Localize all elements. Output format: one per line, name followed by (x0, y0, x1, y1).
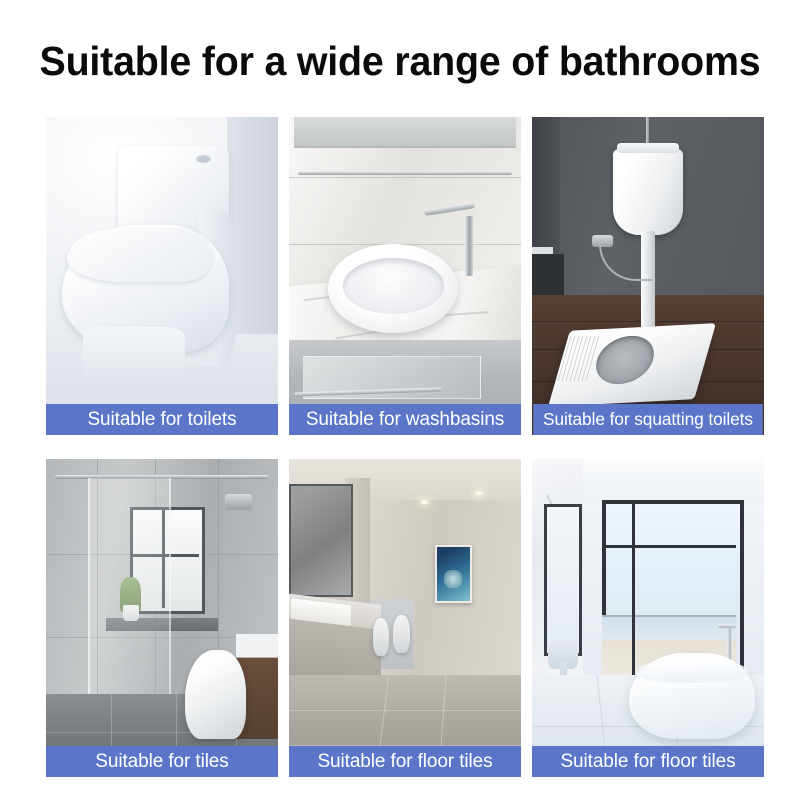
photo-freestanding-tub (532, 459, 764, 777)
sea-view (602, 615, 737, 640)
urinal (393, 615, 409, 653)
floor-tile-line (289, 710, 521, 711)
photo-washbasin (289, 117, 521, 435)
wall-artwork (435, 545, 471, 603)
page-title: Suitable for a wide range of bathrooms (16, 38, 784, 85)
product-feature-page: Suitable for a wide range of bathrooms S… (0, 0, 800, 800)
urinal (373, 618, 389, 656)
feature-panel-squatting-toilets[interactable]: Suitable for squatting toilets (532, 117, 764, 435)
panel-caption-floor-tiles-2: Suitable for floor tiles (532, 746, 764, 777)
panel-caption-floor-tiles-1: Suitable for floor tiles (289, 746, 521, 777)
feature-grid: Suitable for toilets Suitable (46, 117, 764, 777)
photo-toilet (46, 117, 278, 435)
photo-tiled-bathroom (46, 459, 278, 777)
wall-mounted-cistern (613, 149, 683, 235)
chrome-rail (298, 171, 511, 175)
shower-bar (236, 504, 240, 587)
side-window (544, 504, 582, 656)
toilet-pedestal (83, 327, 185, 387)
panel-caption-washbasins: Suitable for washbasins (289, 404, 521, 435)
faucet-body (465, 216, 473, 276)
toilet (185, 650, 245, 739)
panel-caption-squatting-toilets: Suitable for squatting toilets (533, 404, 763, 435)
panel-caption-tiles: Suitable for tiles (46, 746, 278, 777)
feature-panel-toilets[interactable]: Suitable for toilets (46, 117, 278, 435)
glass-shower-door (88, 478, 171, 701)
freestanding-bathtub (629, 653, 754, 739)
downlight (475, 491, 482, 495)
vessel-basin (328, 244, 458, 333)
feature-panel-floor-tiles-2[interactable]: Suitable for floor tiles (532, 459, 764, 777)
panel-caption-toilets: Suitable for toilets (46, 404, 278, 435)
horizon-line (602, 615, 737, 617)
photo-squatting-toilet (532, 117, 764, 435)
window-mullion (632, 500, 635, 681)
wall-mirror (289, 484, 353, 596)
tile-grout-line (289, 177, 521, 178)
feature-panel-washbasins[interactable]: Suitable for washbasins (289, 117, 521, 435)
wall-mirror (294, 117, 517, 148)
window-mullion (602, 545, 737, 548)
feature-panel-tiles[interactable]: Suitable for tiles (46, 459, 278, 777)
toilet-lid (67, 228, 211, 282)
baseboard (532, 254, 564, 299)
photo-public-restroom (289, 459, 521, 777)
feature-panel-floor-tiles-1[interactable]: Suitable for floor tiles (289, 459, 521, 777)
